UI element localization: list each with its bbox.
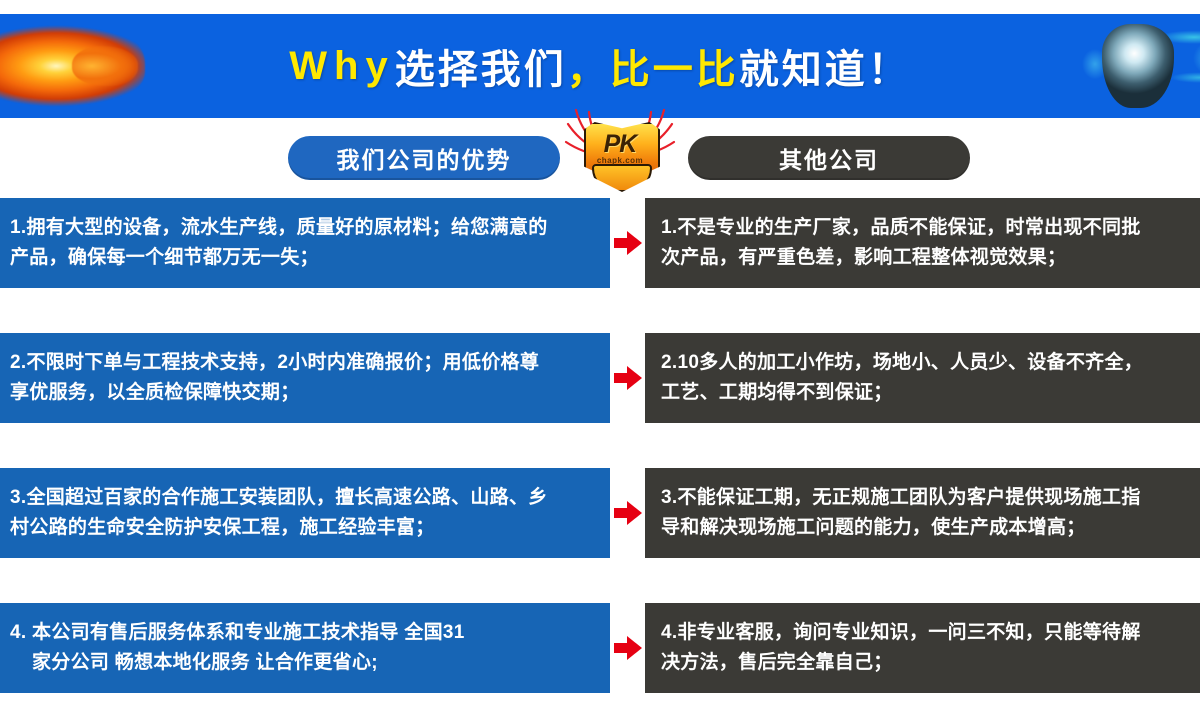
competitor-line: 3.不能保证工期，无正规施工团队为客户提供现场施工指 [661,483,1186,513]
comparison-row: 2.不限时下单与工程技术支持，2小时内准确报价；用低价格尊 享优服务，以全质检保… [0,325,1200,460]
competitor-panel: 3.不能保证工期，无正规施工团队为客户提供现场施工指 导和解决现场施工问题的能力… [645,468,1200,558]
advantage-line: 1.拥有大型的设备，流水生产线，质量好的原材料；给您满意的 [10,213,596,243]
title-part-why: Why [289,44,394,89]
advantage-line: 产品，确保每一个细节都万无一失； [10,243,596,273]
advantage-line: 3.全国超过百家的合作施工安装团队，擅长高速公路、山路、乡 [10,483,596,513]
advantage-line: 4. 本公司有售后服务体系和专业施工技术指导 全国31 [10,618,596,648]
comparison-rows: 1.拥有大型的设备，流水生产线，质量好的原材料；给您满意的 产品，确保每一个细节… [0,190,1200,724]
competitor-panel: 2.10多人的加工小作坊，场地小、人员少、设备不齐全， 工艺、工期均得不到保证； [645,333,1200,423]
competitor-line: 工艺、工期均得不到保证； [661,378,1186,408]
competitor-line: 次产品，有严重色差，影响工程整体视觉效果； [661,243,1186,273]
advantage-panel: 4. 本公司有售后服务体系和专业施工技术指导 全国31 家分公司 畅想本地化服务… [0,603,610,693]
competitor-panel: 1.不是专业的生产厂家，品质不能保证，时常出现不同批 次产品，有严重色差，影响工… [645,198,1200,288]
comparison-row: 1.拥有大型的设备，流水生产线，质量好的原材料；给您满意的 产品，确保每一个细节… [0,190,1200,325]
pk-logo-url: chapk.com [580,156,660,165]
pk-logo: PK chapk.com [562,106,678,194]
tab-our-advantages[interactable]: 我们公司的优势 [288,136,560,180]
title-part-choose-us: 选择我们 [395,37,567,95]
arrow-right-icon [614,366,642,390]
competitor-line: 1.不是专业的生产厂家，品质不能保证，时常出现不同批 [661,213,1186,243]
comparison-row: 4. 本公司有售后服务体系和专业施工技术指导 全国31 家分公司 畅想本地化服务… [0,595,1200,724]
page-title: Why选择我们，比一比就知道！ [0,14,1200,118]
arrow-right-icon [614,636,642,660]
title-part-compare: ，比一比 [567,37,739,95]
competitor-line: 2.10多人的加工小作坊，场地小、人员少、设备不齐全， [661,348,1186,378]
tab-our-advantages-label: 我们公司的优势 [337,141,512,175]
advantage-line: 家分公司 畅想本地化服务 让合作更省心; [10,648,596,678]
pk-tail-shape [592,164,652,192]
pk-logo-mark: PK [584,132,656,157]
comparison-tabs: 我们公司的优势 PK chapk.com 其他公司 [0,136,1200,184]
competitor-panel: 4.非专业客服，询问专业知识，一问三不知，只能等待解 决方法，售后完全靠自己； [645,603,1200,693]
promo-comparison-page: Why选择我们，比一比就知道！ 我们公司的优势 PK [0,0,1200,724]
advantage-line: 享优服务，以全质检保障快交期； [10,378,596,408]
header-banner: Why选择我们，比一比就知道！ [0,14,1200,118]
tab-other-companies-label: 其他公司 [779,141,879,175]
arrow-right-icon [614,231,642,255]
competitor-line: 4.非专业客服，询问专业知识，一问三不知，只能等待解 [661,618,1186,648]
title-part-youll-know: 就知道！ [739,37,911,95]
competitor-line: 决方法，售后完全靠自己； [661,648,1186,678]
arrow-right-icon [614,501,642,525]
advantage-panel: 2.不限时下单与工程技术支持，2小时内准确报价；用低价格尊 享优服务，以全质检保… [0,333,610,423]
advantage-panel: 1.拥有大型的设备，流水生产线，质量好的原材料；给您满意的 产品，确保每一个细节… [0,198,610,288]
competitor-line: 导和解决现场施工问题的能力，使生产成本增高； [661,513,1186,543]
comparison-row: 3.全国超过百家的合作施工安装团队，擅长高速公路、山路、乡 村公路的生命安全防护… [0,460,1200,595]
advantage-line: 村公路的生命安全防护安保工程，施工经验丰富； [10,513,596,543]
tab-other-companies[interactable]: 其他公司 [688,136,970,180]
advantage-panel: 3.全国超过百家的合作施工安装团队，擅长高速公路、山路、乡 村公路的生命安全防护… [0,468,610,558]
advantage-line: 2.不限时下单与工程技术支持，2小时内准确报价；用低价格尊 [10,348,596,378]
